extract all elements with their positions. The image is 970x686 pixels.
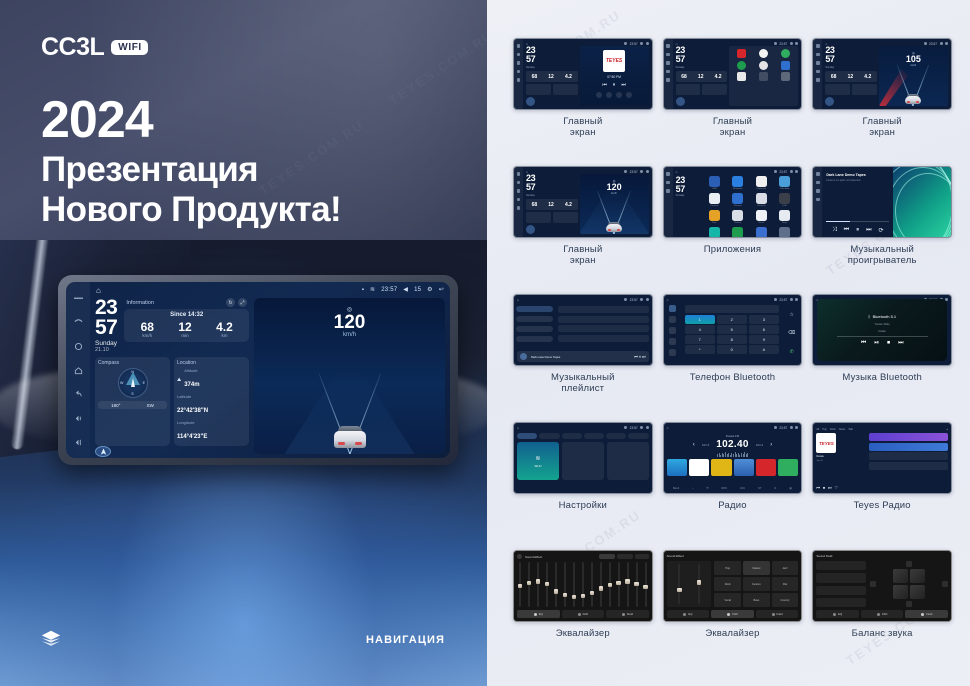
mini-home: 2357 Sunday 68124.2	[526, 174, 649, 234]
playback-controls[interactable]: ⏮⏸⏭	[602, 82, 626, 88]
bluetooth-icon: ᛒ	[868, 314, 870, 319]
list-item[interactable]	[869, 452, 948, 460]
playback-controls[interactable]: ⏮ ⏸ ⏭	[634, 354, 645, 359]
key-9[interactable]: 9	[749, 335, 780, 344]
preset-country[interactable]: Country	[772, 593, 799, 607]
seat-rear-left[interactable]	[893, 585, 908, 599]
balance-left-button[interactable]	[870, 581, 876, 587]
dialer-nav[interactable]	[664, 302, 682, 365]
thumbnail-sound-balance[interactable]: Sound Field	[812, 550, 952, 622]
nav-albums[interactable]	[516, 316, 553, 322]
gallery-caption: Телефон Bluetooth	[690, 372, 776, 383]
fader[interactable]	[537, 562, 539, 607]
gallery-item[interactable]: ⌂23:57 2357 Sunday 68124.2	[663, 38, 803, 164]
mini-location	[553, 212, 578, 223]
back-icon[interactable]	[74, 390, 83, 399]
mini-left: 2357 Sunday 68124.2	[676, 46, 728, 106]
navigation-arrow-icon[interactable]	[526, 97, 535, 106]
card-carplay[interactable]	[562, 442, 604, 480]
preset-driver[interactable]	[816, 561, 866, 570]
key-8[interactable]: 8	[717, 335, 748, 344]
mini-sidebar	[813, 167, 822, 237]
list-item[interactable]	[558, 335, 648, 342]
tab-system[interactable]	[628, 433, 648, 439]
stat-distance: 4.2 km	[216, 321, 233, 338]
compass-south: S	[131, 392, 133, 396]
tab-general[interactable]	[606, 433, 626, 439]
list-item[interactable]: Play	[728, 227, 747, 238]
list-item[interactable]: Calculator	[775, 176, 794, 190]
navigation-arrow-icon[interactable]	[95, 446, 111, 457]
gallery-item[interactable]: ⌂23:57 Russia FM ‹ 101.5 102.40 103.2 ›	[663, 422, 803, 548]
gallery-item[interactable]: 23:57 Dark Lane Demo Tapes Feature & Lig…	[812, 166, 952, 292]
mini-location	[852, 84, 877, 95]
nav-folders[interactable]	[516, 336, 553, 342]
thumbnail-bluetooth-phone[interactable]: ⌂23:57 1 2 3 4	[663, 294, 803, 366]
tab-sound[interactable]	[539, 433, 559, 439]
tab-field[interactable]: Field	[756, 610, 799, 618]
balance-pad-area[interactable]	[870, 561, 948, 607]
thumbnail-home-music[interactable]: ⌂23:57 2357 Sunday 68124.2	[513, 38, 653, 110]
mini-compass	[676, 84, 701, 95]
list-item[interactable]	[869, 462, 948, 470]
radio-icon	[756, 227, 767, 238]
mini-sidebar	[664, 167, 673, 237]
next-station-button[interactable]: ›	[770, 442, 772, 448]
list-item[interactable]: Files	[705, 210, 724, 224]
information-widget[interactable]: Information ↻ ⤢ Since 14:32	[124, 298, 249, 353]
stat-value: 4.2	[216, 321, 233, 333]
search-icon	[669, 327, 676, 334]
next-icon: ⏭	[898, 340, 903, 347]
album-art: TEYES	[816, 433, 836, 453]
preset-4[interactable]	[734, 459, 754, 476]
rds-button: RDS	[722, 487, 727, 490]
compass-widget[interactable]: Compass N E S W	[95, 357, 170, 446]
preset-3[interactable]	[711, 459, 731, 476]
layers-icon[interactable]	[40, 628, 62, 650]
tab-eq[interactable]: EQ	[816, 610, 859, 618]
list-item[interactable]: Radio	[751, 227, 770, 238]
gear-icon[interactable]: ⚙	[427, 286, 433, 293]
mini-clock: 2357	[526, 46, 578, 63]
tab-fad[interactable]: FAD	[562, 610, 605, 618]
fader[interactable]	[528, 562, 530, 607]
prev-icon: ⏮	[861, 340, 866, 347]
station-list[interactable]	[869, 433, 948, 490]
information-buttons[interactable]: ↻ ⤢	[226, 298, 247, 307]
mini-location	[553, 84, 578, 95]
mini-body: ⌂23:57 2357 Sunday 68124.2	[523, 167, 652, 237]
prev-icon: ⏮	[844, 227, 849, 234]
mini-sidebar	[514, 39, 523, 109]
mini-date: Sunday	[526, 194, 578, 197]
mini-screen: ⌂23:57 2357 Sunday USB Bluetooth Keyboar…	[664, 167, 802, 237]
preset-pop[interactable]: Pop	[714, 561, 741, 575]
thumbnail-teyes-radio[interactable]: AllPopRockNewsTalk● TEYES Russia Top 40 …	[812, 422, 952, 494]
preset-bass[interactable]: Bass	[743, 593, 770, 607]
preset-vocal[interactable]: Vocal	[714, 593, 741, 607]
home-icon[interactable]: ⌂	[96, 286, 101, 295]
screen-sidebar[interactable]	[66, 282, 90, 458]
next-icon: ⏭	[866, 227, 871, 234]
navigation-arrow-icon[interactable]	[825, 97, 834, 106]
prev-station-button[interactable]: ‹	[693, 442, 695, 448]
hero-title: 2024 Презентация Нового Продукта!	[41, 94, 341, 229]
seat-front-left[interactable]	[893, 569, 908, 583]
gallery-item[interactable]: AllPopRockNewsTalk● TEYES Russia Top 40 …	[812, 422, 952, 548]
compass-east: E	[143, 381, 145, 385]
mini-screen: ⌂23:57 Russia FM ‹ 101.5 102.40 103.2 ›	[664, 423, 802, 493]
mini-screen: ⌂23:57 2357 Sunday 68124.2	[664, 39, 802, 109]
favorite-icon: ♡	[835, 485, 839, 490]
preset-stations[interactable]	[667, 459, 799, 476]
fader[interactable]	[636, 562, 638, 607]
fader[interactable]	[546, 562, 548, 607]
prev-icon: ⏮	[602, 82, 607, 88]
mini-home: 2357 Sunday 68124.2 TEYES 07:50 P	[526, 46, 649, 106]
tab-driving[interactable]	[584, 433, 604, 439]
mini-location	[702, 84, 727, 95]
balance-down-button[interactable]	[906, 601, 912, 607]
mute-icon[interactable]	[74, 294, 83, 303]
dialer-layout: 1 2 3 4 5 6 7 8 9 *	[664, 302, 802, 365]
camera-icon	[709, 193, 720, 204]
fader[interactable]	[582, 562, 584, 607]
home-widgets: 23 57 Sunday 21.10 Information	[95, 298, 445, 454]
fader[interactable]	[573, 562, 575, 607]
app-drawer-grid[interactable]: USB Bluetooth Keyboard Calculator Camera…	[703, 174, 799, 234]
gallery-item[interactable]: ⌂23:57	[513, 422, 653, 548]
keypad-icon	[669, 305, 676, 312]
thumbnail-music-player[interactable]: 23:57 Dark Lane Demo Tapes Feature & Lig…	[812, 166, 952, 238]
gallery-item[interactable]: ⌂23:57 ᛒBluetooth 5.1 Toosie Slide Drake…	[812, 294, 952, 420]
dialer-actions[interactable]: ☆⌫✆	[782, 302, 801, 365]
play-store-icon	[732, 227, 743, 238]
tab-talk: Talk	[848, 428, 853, 431]
mini-screen: ⌂23:57	[514, 423, 652, 493]
gallery-item[interactable]: ⌂23:57	[513, 294, 653, 420]
preset-2[interactable]	[689, 459, 709, 476]
driving-view-widget[interactable]: ◎ 120 km/h	[254, 298, 445, 454]
list-item[interactable]	[558, 316, 648, 323]
fader[interactable]	[678, 564, 680, 604]
thumbnail-equalizer-presets[interactable]: Sound Effect Pop Classic Jazz Rock	[663, 550, 803, 622]
compass-mode: SW	[147, 403, 154, 408]
thumbnail-equalizer-bands[interactable]: Sound Effect	[513, 550, 653, 622]
hero-title-line2: Нового Продукта!	[41, 190, 341, 230]
location-widget[interactable]: Location ⛰ Altitude 374m	[174, 357, 249, 446]
loc-button: LOC	[740, 487, 745, 490]
tab-fad[interactable]: FAD	[711, 610, 754, 618]
home-icon[interactable]	[74, 366, 83, 375]
thumbnail-playlist[interactable]: ⌂23:57	[513, 294, 653, 366]
fader[interactable]	[519, 562, 521, 607]
preset-rock[interactable]: Rock	[714, 577, 741, 591]
gallery-icon	[732, 210, 743, 221]
car-interior-illustration: ⌂ ▪ ≋ 23:57 ◀ 15 ⚙ ↩	[0, 240, 487, 686]
bt-version: Bluetooth 5.1	[873, 314, 897, 319]
station-meta: Top 40	[816, 460, 866, 462]
call-log-icon	[669, 338, 676, 345]
list-item[interactable]: Maps	[775, 210, 794, 224]
thumbnail-home-speed[interactable]: ⌂23:57 2357 Sunday 68124.2	[513, 166, 653, 238]
keypad-grid[interactable]: 1 2 3 4 5 6 7 8 9 *	[685, 315, 780, 354]
spotify-icon[interactable]	[737, 61, 746, 70]
usb-icon	[709, 176, 720, 187]
fader[interactable]	[555, 562, 557, 607]
slider-pair[interactable]	[667, 561, 712, 607]
preset-1[interactable]	[667, 459, 687, 476]
tuning-dial[interactable]	[667, 452, 799, 457]
gallery-item[interactable]: Sound Field	[812, 550, 952, 676]
gallery-caption: Настройки	[559, 500, 607, 511]
key-7[interactable]: 7	[685, 335, 716, 344]
maps-icon[interactable]	[781, 49, 790, 58]
thumbnail-settings[interactable]: ⌂23:57	[513, 422, 653, 494]
gallery-caption: Приложения	[704, 244, 762, 255]
gallery-grid: ⌂23:57 2357 Sunday 68124.2	[513, 38, 952, 676]
volume-down-icon[interactable]	[74, 414, 83, 423]
gallery-item[interactable]: ⌂23:57 1 2 3 4	[663, 294, 803, 420]
balance-up-button[interactable]	[906, 561, 912, 567]
list-item[interactable]: DSP	[775, 193, 794, 207]
seat-pad[interactable]	[893, 569, 925, 599]
mini-date: Sunday	[526, 66, 578, 69]
mini-screen: AllPopRockNewsTalk● TEYES Russia Top 40 …	[813, 423, 951, 493]
radio-toolbar[interactable]: Band⌕☰RDSLOCST⚙▦	[667, 487, 799, 490]
power-icon[interactable]	[74, 342, 83, 351]
back-icon[interactable]: ↩	[439, 286, 444, 293]
mini-body: ⌂23:57	[514, 423, 652, 493]
thumbnail-bluetooth-music[interactable]: ⌂23:57 ᛒBluetooth 5.1 Toosie Slide Drake…	[812, 294, 952, 366]
contacts-icon	[756, 193, 767, 204]
key-1[interactable]: 1	[685, 315, 716, 324]
gallery-item[interactable]: ⌂23:57 2357 Sunday 68124.2	[812, 38, 952, 164]
tab-field[interactable]: Field	[606, 610, 649, 618]
compass-footer: 180° SW	[98, 401, 167, 409]
clock-and-info: 23 57 Sunday 21.10 Information	[95, 298, 249, 353]
expand-icon[interactable]: ⤢	[238, 298, 247, 307]
dialer-keypad[interactable]: 1 2 3 4 5 6 7 8 9 *	[682, 302, 783, 365]
thumbnail-app-drawer[interactable]: ⌂23:57 2357 Sunday USB Bluetooth Keyboar…	[663, 166, 803, 238]
key-star[interactable]: *	[685, 345, 716, 354]
compass-heading: 180°	[111, 403, 120, 408]
preset-all[interactable]	[816, 598, 866, 607]
list-item[interactable]	[869, 433, 948, 441]
list-item[interactable]: Gallery	[728, 210, 747, 224]
fader[interactable]	[627, 562, 629, 607]
mini-body: ⌂23:57 2357 Sunday 68124.2	[822, 39, 951, 109]
mini-body: ⌂23:57	[514, 295, 652, 365]
list-item[interactable]	[558, 325, 648, 332]
speed-readout: ◎ 120 km/h	[254, 306, 445, 338]
head-unit-screen[interactable]: ⌂ ▪ ≋ 23:57 ◀ 15 ⚙ ↩	[66, 282, 450, 458]
settings-icon[interactable]	[759, 72, 768, 81]
photos-icon[interactable]	[759, 61, 768, 70]
fader-bank[interactable]	[517, 559, 649, 610]
mini-body: ⌂23:57 Russia FM ‹ 101.5 102.40 103.2 ›	[664, 423, 802, 493]
gallery-item[interactable]: Sound Effect Pop Classic Jazz Rock	[663, 550, 803, 676]
equalizer-tabs[interactable]: EQ FAD Field	[517, 610, 649, 618]
seat-rear-right[interactable]	[910, 585, 925, 599]
youtube-icon[interactable]	[737, 49, 746, 58]
preset-grid[interactable]: Pop Classic Jazz Rock Custom Flat Vocal …	[714, 561, 798, 607]
list-item[interactable]: USB	[705, 176, 724, 190]
key-5[interactable]: 5	[717, 325, 748, 334]
play-store-icon[interactable]	[737, 72, 746, 81]
preset-front[interactable]	[816, 573, 866, 582]
drawer-clock: 2357 Sunday	[676, 174, 703, 234]
tab-display[interactable]	[562, 433, 582, 439]
mini-sidebar	[664, 39, 673, 109]
equalizer2-tabs[interactable]: EQ FAD Field	[667, 610, 799, 618]
tab-eq[interactable]: EQ	[517, 610, 560, 618]
thumbnail-home-drive[interactable]: ⌂23:57 2357 Sunday 68124.2	[812, 38, 952, 110]
preset-6[interactable]	[778, 459, 798, 476]
album-art	[520, 353, 527, 360]
fader[interactable]	[645, 562, 647, 607]
preset-flat[interactable]: Flat	[772, 577, 799, 591]
navigation-arrow-icon[interactable]	[526, 225, 535, 234]
preset-5[interactable]	[756, 459, 776, 476]
mini-app-shortcuts[interactable]	[729, 46, 798, 106]
gallery-item[interactable]: Sound Effect	[513, 550, 653, 676]
list-item[interactable]: Camera	[705, 193, 724, 207]
seat-front-right[interactable]	[910, 569, 925, 583]
volume-up-icon[interactable]	[74, 438, 83, 447]
tab-fad[interactable]: FAD	[861, 610, 904, 618]
home-left-column: 23 57 Sunday 21.10 Information	[95, 298, 249, 454]
altitude-row: ⛰ Altitude 374m	[177, 368, 246, 391]
pause-icon: ⏸	[856, 227, 859, 234]
mini-screen: ⌂23:57 2357 Sunday 68124.2	[514, 39, 652, 109]
gallery-item[interactable]: ⌂23:57 2357 Sunday USB Bluetooth Keyboar…	[663, 166, 803, 292]
teyes-radio-tabs[interactable]: AllPopRockNewsTalk●	[816, 428, 948, 431]
thumbnail-radio[interactable]: ⌂23:57 Russia FM ‹ 101.5 102.40 103.2 ›	[663, 422, 803, 494]
chrome-icon[interactable]	[759, 49, 768, 58]
mini-statusbar: ⌂23:57	[517, 425, 649, 430]
key-4[interactable]: 4	[685, 325, 716, 334]
eq-icon: ⚙	[774, 487, 776, 490]
fader[interactable]	[591, 562, 593, 607]
gallery-item[interactable]: ⌂23:57 2357 Sunday 68124.2	[513, 166, 653, 292]
navigation-label: НАВИГАЦИЯ	[366, 634, 445, 646]
gallery-caption: Главныйэкран	[563, 116, 602, 138]
key-6[interactable]: 6	[749, 325, 780, 334]
prev-icon: ⏮	[816, 485, 820, 490]
altitude-value: 374m	[184, 382, 199, 388]
nav-tracks[interactable]	[516, 306, 553, 312]
preset-rear[interactable]	[816, 586, 866, 595]
preset-classic[interactable]: Classic	[743, 561, 770, 575]
list-item[interactable]: Chrome	[728, 193, 747, 207]
app-shortcut-grid[interactable]	[729, 46, 798, 84]
settings-tabs[interactable]	[517, 433, 649, 439]
information-title: Information	[126, 300, 154, 306]
tab-wifi[interactable]	[517, 433, 537, 439]
quick-actions[interactable]	[596, 92, 632, 98]
nav-artists[interactable]	[516, 326, 553, 332]
thumbnail-home-apps[interactable]: ⌂23:57 2357 Sunday 68124.2	[663, 38, 803, 110]
balance-tabs[interactable]: EQ FAD Field	[816, 610, 948, 618]
mail-icon[interactable]	[781, 61, 790, 70]
mini-compass	[825, 84, 850, 95]
next-icon: ⏭	[828, 485, 832, 490]
fader[interactable]	[698, 564, 700, 604]
hero-panel: TEYES.COM.RU TEYES.COM.RU TEYES.COM.RU T…	[0, 0, 487, 686]
keyboard-icon	[756, 176, 767, 187]
mini-statusbar: ⌂23:57	[667, 297, 799, 302]
screenshot-gallery: TEYES.COM.RU TEYES.COM.RU TEYES.COM.RU T…	[487, 0, 970, 686]
wifi-badge: WIFI	[111, 40, 148, 55]
card-more[interactable]	[607, 442, 649, 480]
phone-number-input[interactable]	[685, 305, 780, 313]
list-item[interactable]: Contacts	[751, 193, 770, 207]
gallery-item[interactable]: ⌂23:57 2357 Sunday 68124.2	[513, 38, 653, 164]
mini-lower-cards	[825, 84, 877, 95]
tab-eq[interactable]: EQ	[667, 610, 710, 618]
list-item[interactable]: Music	[705, 227, 724, 238]
playback-controls[interactable]: ⤨⏮⏸⏭⟳	[826, 227, 889, 234]
fader[interactable]	[564, 562, 566, 607]
settings-cards[interactable]: ≋ Wi-Fi	[517, 442, 649, 480]
mini-driving-view: ◎ 120 km/h	[580, 174, 649, 234]
key-0[interactable]: 0	[717, 345, 748, 354]
tab-field[interactable]: Field	[905, 610, 948, 618]
profile-icon: ●	[946, 428, 948, 431]
balance-presets[interactable]	[816, 561, 866, 607]
mini-home: 2357 Sunday 68124.2	[676, 46, 799, 106]
refresh-icon[interactable]: ↻	[226, 298, 235, 307]
mini-screen: 23:57 Dark Lane Demo Tapes Feature & Lig…	[813, 167, 951, 237]
fader[interactable]	[609, 562, 611, 607]
key-3[interactable]: 3	[749, 315, 780, 324]
equalizer-layout: Sound Effect	[514, 551, 652, 621]
preset-jazz[interactable]: Jazz	[772, 561, 799, 575]
balance-right-button[interactable]	[942, 581, 948, 587]
progress-bar[interactable]	[826, 221, 889, 222]
list-item[interactable]	[869, 443, 948, 451]
list-item[interactable]	[558, 306, 648, 313]
fader[interactable]	[618, 562, 620, 607]
now-playing-bar[interactable]: Dark Lane Demo Tapes ⏮ ⏸ ⏭	[517, 351, 649, 362]
car-model-3d	[605, 219, 623, 232]
bt-version-row: ᛒBluetooth 5.1	[868, 314, 896, 319]
equalizer2-body: Pop Classic Jazz Rock Custom Flat Vocal …	[667, 558, 799, 610]
key-2[interactable]: 2	[717, 315, 748, 324]
audio-visualizer	[893, 167, 951, 237]
key-hash[interactable]: #	[749, 345, 780, 354]
playback-controls[interactable]: ⏮⏹⏭♡	[816, 485, 866, 490]
list-item[interactable]: Bluetooth	[728, 176, 747, 190]
navigation-arrow-icon[interactable]	[676, 97, 685, 106]
mini-lower-cards	[526, 84, 578, 95]
all-apps-icon[interactable]	[781, 72, 790, 81]
stop-icon: ⏹	[887, 340, 890, 347]
preset-custom[interactable]: Custom	[743, 577, 770, 591]
list-item[interactable]: Gmail	[751, 210, 770, 224]
fader[interactable]	[600, 562, 602, 607]
list-item[interactable]: Settings	[775, 227, 794, 238]
playback-controls[interactable]: ⏮⏯⏹⏭	[861, 340, 904, 347]
list-item[interactable]: Keyboard	[751, 176, 770, 190]
mini-screen: ⌂23:57	[514, 295, 652, 365]
backspace-icon: ⌫	[788, 330, 795, 336]
card-wifi[interactable]: ≋ Wi-Fi	[517, 442, 559, 480]
progress-bar[interactable]	[837, 336, 928, 337]
wifi-icon[interactable]	[74, 318, 83, 327]
